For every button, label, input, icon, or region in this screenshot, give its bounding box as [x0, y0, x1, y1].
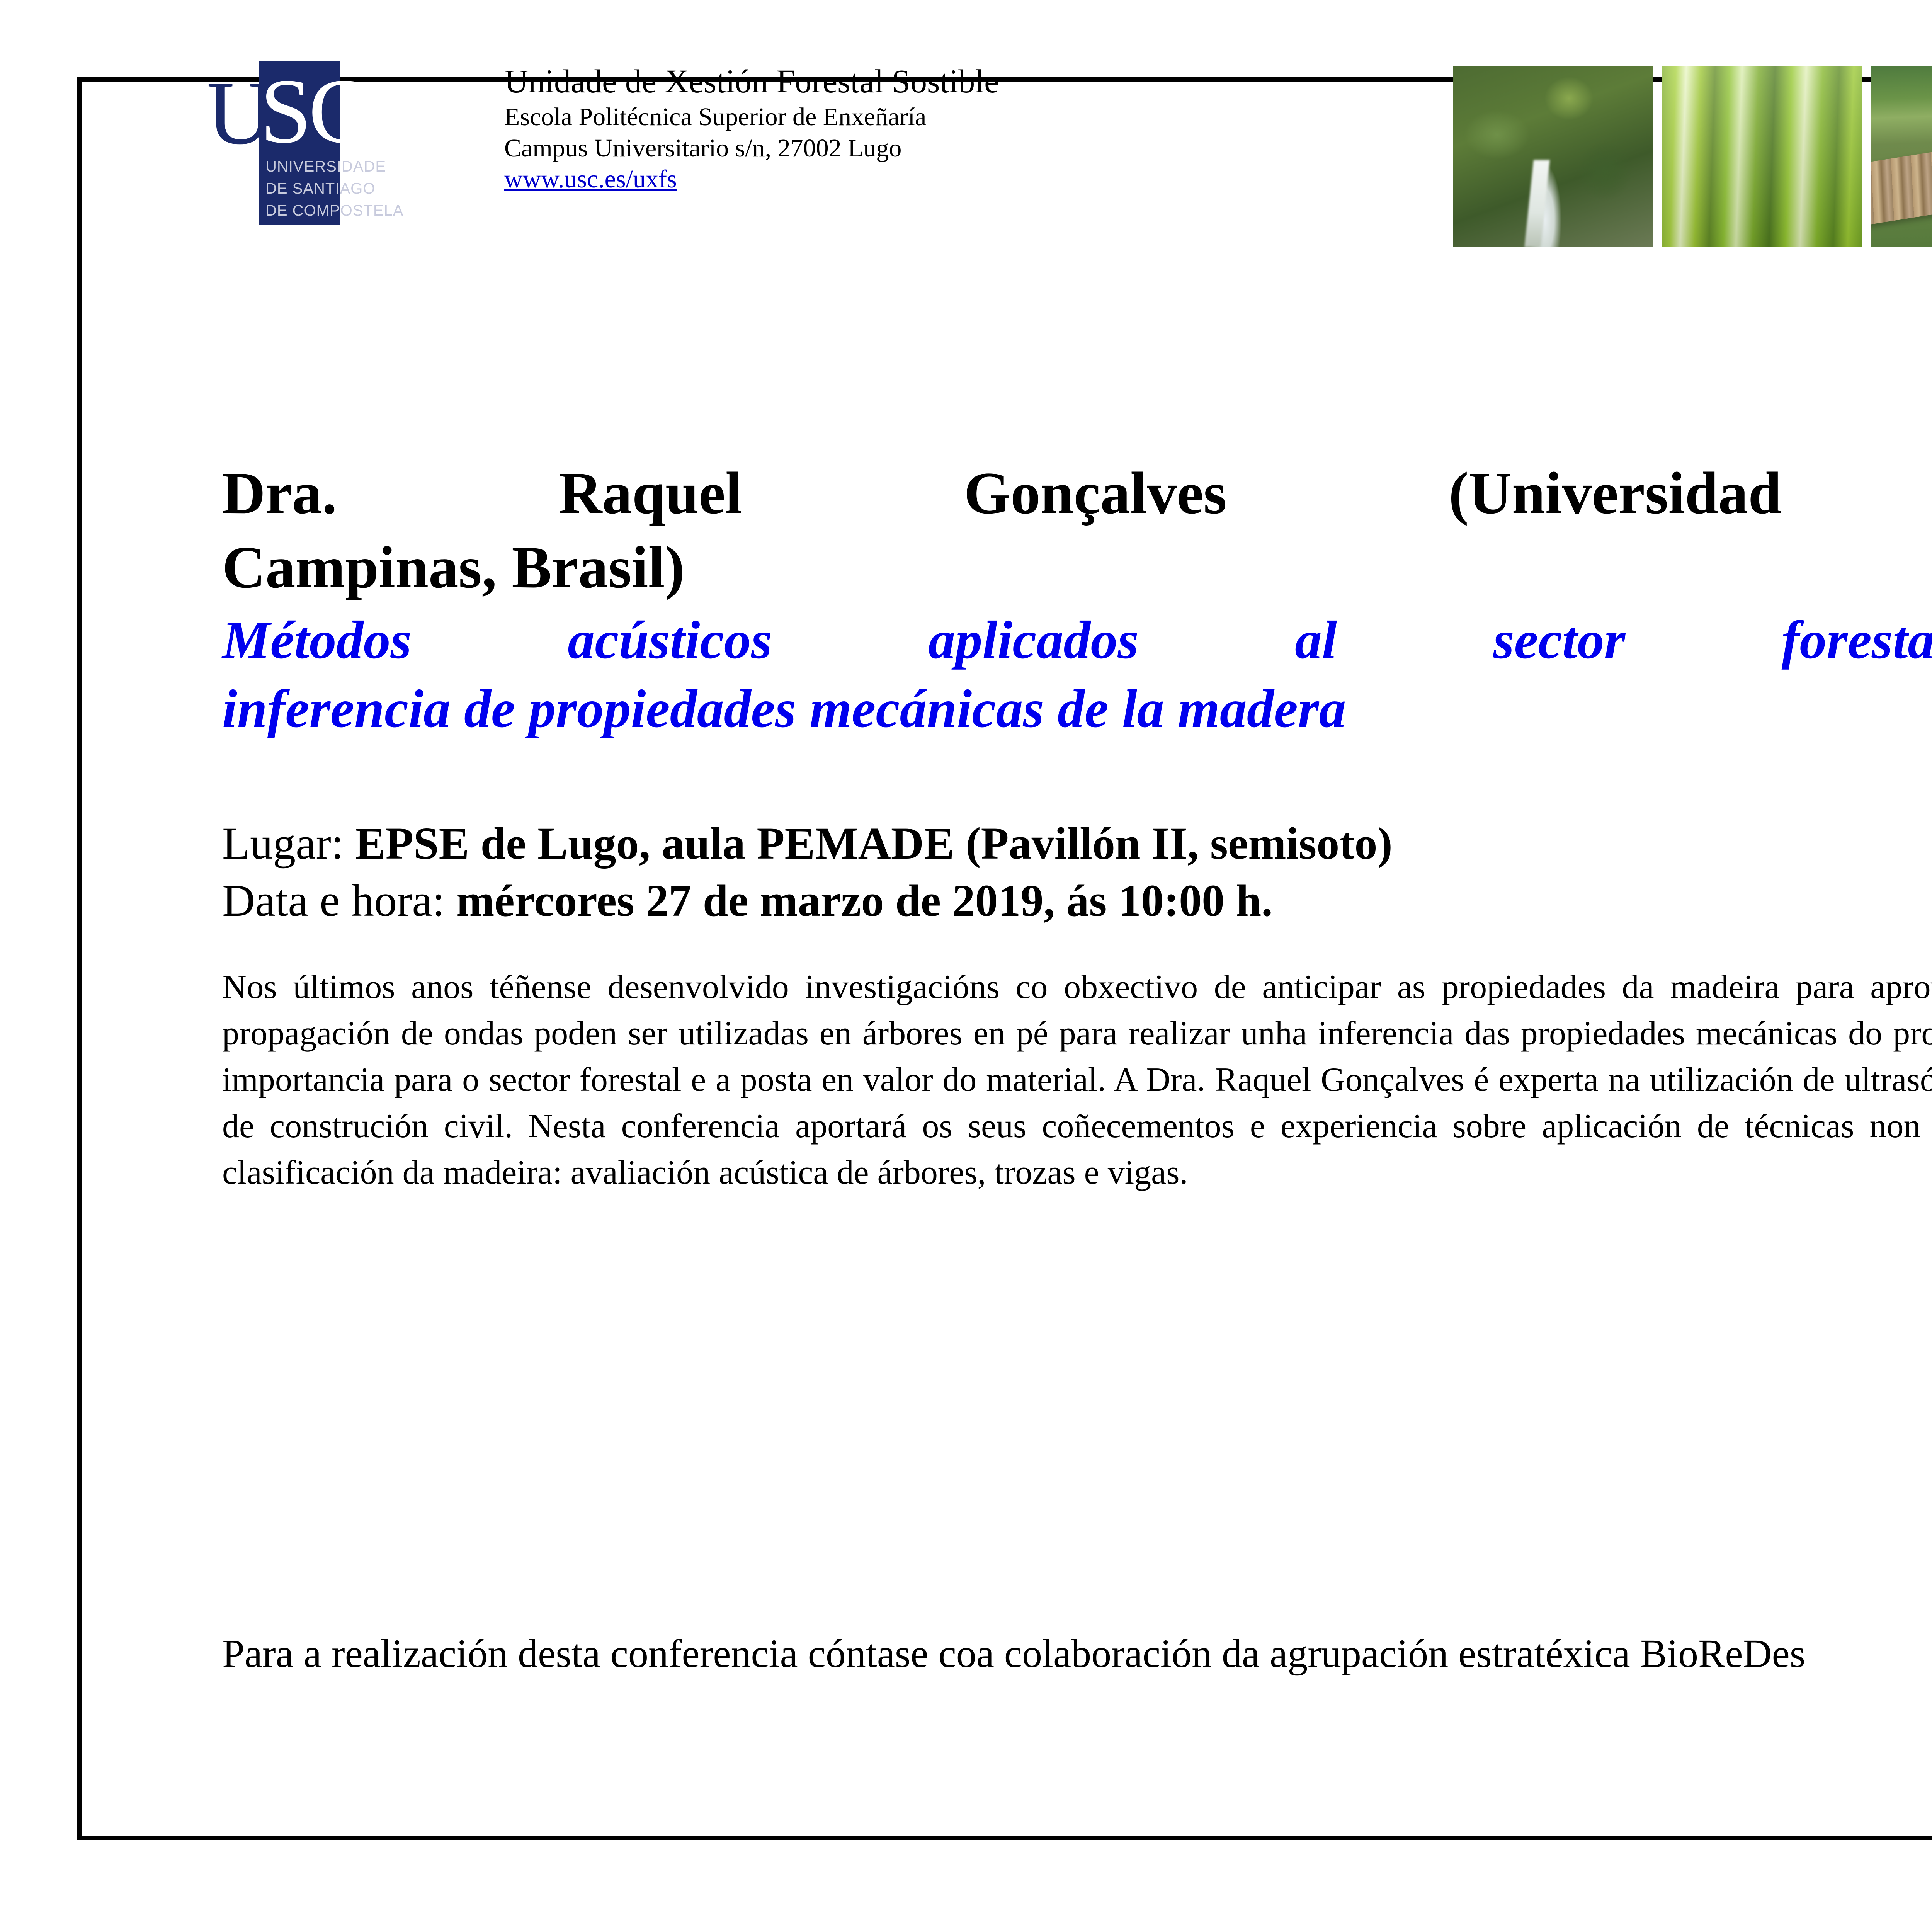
usc-logo-subtext: UNIVERSIDADE DE SANTIAGO DE COMPOSTELA	[265, 156, 343, 222]
poster-header: U SC UNIVERSIDADE DE SANTIAGO DE COMPOST…	[139, 50, 1932, 232]
datetime-label: Data e hora:	[222, 875, 445, 926]
abstract-paragraph: Nos últimos anos téñense desenvolvido in…	[222, 964, 1932, 1196]
talk-title-line-1: Métodos acústicos aplicados al sector fo…	[222, 606, 1932, 675]
usc-logo-sc-letters: SC	[260, 65, 367, 157]
stacked-logs-photo	[1871, 66, 1932, 247]
speaker-title-line-2: Campinas, Brasil)	[222, 530, 1932, 604]
datetime-value: mércores 27 de marzo de 2019, ás 10:00 h…	[456, 875, 1273, 926]
venue-row: Lugar: EPSE de Lugo, aula PEMADE (Pavill…	[222, 815, 1932, 872]
datetime-row: Data e hora: mércores 27 de marzo de 201…	[222, 872, 1932, 929]
talk-title: Métodos acústicos aplicados al sector fo…	[222, 606, 1932, 743]
collaboration-note: Para a realización desta conferencia cón…	[222, 1629, 1805, 1679]
postal-address: Campus Universitario s/n, 27002 Lugo	[504, 133, 1432, 164]
usc-logo-subtext-line-1: UNIVERSIDADE	[265, 156, 343, 178]
unit-name: Unidade de Xestión Forestal Sostible	[504, 61, 1432, 101]
event-details: Lugar: EPSE de Lugo, aula PEMADE (Pavill…	[222, 815, 1932, 929]
beech-forest-photo	[1662, 66, 1862, 247]
usc-logo-subtext-line-2: DE SANTIAGO	[265, 178, 343, 200]
venue-label: Lugar:	[222, 818, 344, 869]
talk-title-line-2: inferencia de propiedades mecánicas de l…	[222, 675, 1932, 743]
school-name: Escola Politécnica Superior de Enxeñaría	[504, 101, 1432, 133]
usc-logo-subtext-line-3: DE COMPOSTELA	[265, 200, 343, 222]
poster-page: U SC UNIVERSIDADE DE SANTIAGO DE COMPOST…	[0, 0, 1932, 1917]
header-photo-strip	[1453, 66, 1932, 247]
institution-text-block: Unidade de Xestión Forestal Sostible Esc…	[504, 61, 1432, 195]
poster-body: Dra. Raquel Gonçalves (Universidad Estad…	[222, 456, 1932, 1196]
venue-value: EPSE de Lugo, aula PEMADE (Pavillón II, …	[355, 818, 1393, 869]
unit-website-link[interactable]: www.usc.es/uxfs	[504, 164, 677, 195]
forest-stream-photo	[1453, 66, 1653, 247]
speaker-title-line-1: Dra. Raquel Gonçalves (Universidad Estad…	[222, 456, 1932, 530]
usc-logo: U SC UNIVERSIDADE DE SANTIAGO DE COMPOST…	[207, 61, 340, 225]
speaker-title: Dra. Raquel Gonçalves (Universidad Estad…	[222, 456, 1932, 604]
